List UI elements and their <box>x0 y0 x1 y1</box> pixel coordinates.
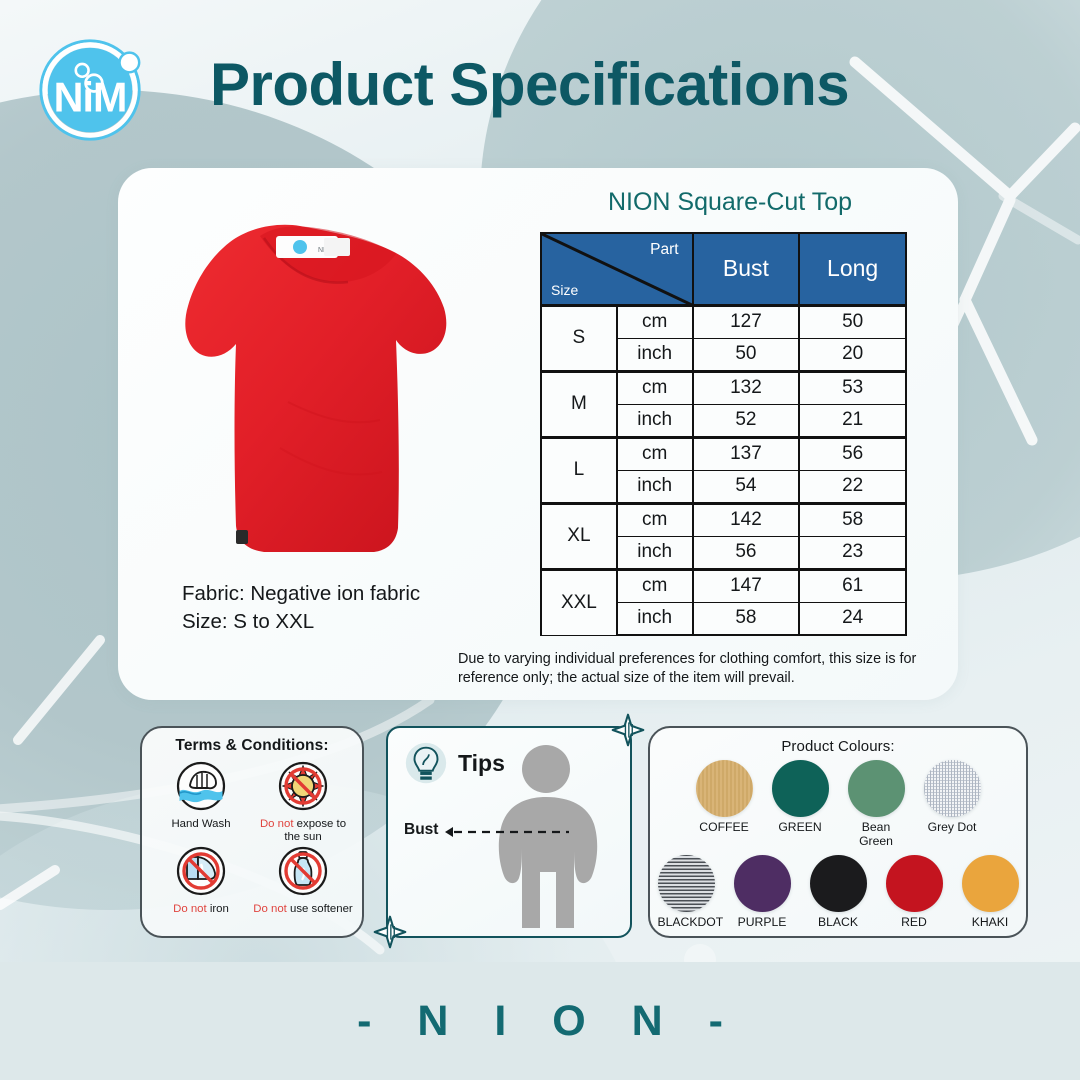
colour-swatch-bean-green[interactable]: Bean Green <box>848 760 905 848</box>
swatch-label: RED <box>886 916 943 930</box>
size-table-title: NION Square-Cut Top <box>540 188 920 217</box>
swatch-label: COFFEE <box>696 821 753 835</box>
colour-swatch-grey-dot[interactable]: Grey Dot <box>924 760 981 848</box>
table-row: M cm 132 53 <box>541 371 906 404</box>
table-row: XL cm 142 58 <box>541 503 906 536</box>
care-item-no-iron: Do not iron <box>150 846 252 916</box>
bust-value: 52 <box>693 404 800 437</box>
care-label-text: Hand Wash <box>171 818 230 830</box>
bust-value: 142 <box>693 503 800 536</box>
unit-cell: cm <box>617 371 693 404</box>
bust-value: 132 <box>693 371 800 404</box>
no-sun-icon <box>278 761 328 811</box>
care-label: Hand Wash <box>150 818 252 831</box>
bust-value: 56 <box>693 536 800 569</box>
brand-name: - N I O N - <box>340 997 740 1046</box>
long-value: 21 <box>799 404 906 437</box>
care-label: Do not use softener <box>252 903 354 916</box>
size-disclaimer: Due to varying individual preferences fo… <box>458 650 938 688</box>
star-decoration-icon <box>373 915 407 949</box>
tips-body: Tips Bust <box>388 728 630 936</box>
long-value: 24 <box>799 602 906 635</box>
colour-swatch-purple[interactable]: PURPLE <box>734 855 791 930</box>
table-corner-cell: Part Size <box>541 233 693 305</box>
swatch-circle <box>848 760 905 817</box>
colour-row-1: COFFEE GREEN Bean Green Grey Dot <box>650 760 1026 848</box>
swatch-label: GREEN <box>772 821 829 835</box>
unit-cell: cm <box>617 569 693 602</box>
swatch-circle <box>886 855 943 912</box>
product-info: Fabric: Negative ion fabric Size: S to X… <box>182 580 420 637</box>
svg-text:NiM: NiM <box>54 75 127 121</box>
size-table: Part Size Bust Long S cm 127 50 inch 50 … <box>540 232 907 636</box>
unit-cell: inch <box>617 470 693 503</box>
table-row: S cm 127 50 <box>541 305 906 338</box>
fabric-line: Fabric: Negative ion fabric <box>182 580 420 608</box>
care-label-text: expose to the sun <box>284 818 346 843</box>
care-label-red: Do not <box>253 903 287 915</box>
bust-value: 58 <box>693 602 800 635</box>
person-silhouette-icon <box>484 742 614 938</box>
swatch-circle <box>772 760 829 817</box>
swatch-label: Grey Dot <box>924 821 981 835</box>
swatch-label: Bean Green <box>848 821 905 848</box>
size-cell: XXL <box>541 569 617 635</box>
colour-swatch-khaki[interactable]: KHAKI <box>962 855 1019 930</box>
no-softener-icon <box>278 846 328 896</box>
page-header: NiM Product Specifications <box>0 0 1080 168</box>
swatch-circle <box>734 855 791 912</box>
column-header-long: Long <box>799 233 906 305</box>
product-photo: NION <box>168 212 468 572</box>
care-label: Do not expose to the sun <box>252 818 354 844</box>
unit-cell: inch <box>617 536 693 569</box>
care-label-red: Do not <box>260 818 294 830</box>
care-label: Do not iron <box>150 903 252 916</box>
long-value: 61 <box>799 569 906 602</box>
bust-measure-label: Bust <box>404 821 438 839</box>
tips-panel: Tips Bust <box>386 726 632 938</box>
terms-conditions-panel: Terms & Conditions: Hand Wash <box>140 726 364 938</box>
care-label-text: iron <box>207 903 229 915</box>
bust-value: 50 <box>693 338 800 371</box>
colour-swatch-black[interactable]: BLACK <box>810 855 867 930</box>
bust-value: 54 <box>693 470 800 503</box>
care-item-no-softener: Do not use softener <box>252 846 354 916</box>
column-header-bust: Bust <box>693 233 800 305</box>
colour-swatch-green[interactable]: GREEN <box>772 760 829 848</box>
nim-logo-icon: NiM <box>33 31 151 149</box>
swatch-circle <box>924 760 981 817</box>
unit-cell: cm <box>617 437 693 470</box>
colours-title: Product Colours: <box>650 728 1026 755</box>
care-icon-grid: Hand Wash Do not expose to the sun <box>142 755 362 917</box>
product-colours-panel: Product Colours: COFFEE GREEN Bean Green… <box>648 726 1028 938</box>
long-value: 56 <box>799 437 906 470</box>
size-line: Size: S to XXL <box>182 608 420 636</box>
long-value: 20 <box>799 338 906 371</box>
star-decoration-icon <box>611 713 645 747</box>
size-cell: XL <box>541 503 617 569</box>
care-label-red: Do not <box>173 903 207 915</box>
swatch-label: BLACK <box>810 916 867 930</box>
long-value: 53 <box>799 371 906 404</box>
corner-part-label: Part <box>650 241 678 259</box>
care-item-no-sun: Do not expose to the sun <box>252 761 354 844</box>
corner-size-label: Size <box>551 282 578 298</box>
swatch-label: PURPLE <box>734 916 791 930</box>
page-title: Product Specifications <box>210 50 849 119</box>
table-row: XXL cm 147 61 <box>541 569 906 602</box>
care-item-hand-wash: Hand Wash <box>150 761 252 844</box>
page-footer: - N I O N - <box>0 962 1080 1080</box>
colour-swatch-coffee[interactable]: COFFEE <box>696 760 753 848</box>
lightbulb-icon <box>402 740 450 788</box>
bust-value: 147 <box>693 569 800 602</box>
colour-swatch-blackdot[interactable]: BLACKDOT <box>658 855 715 930</box>
swatch-label: KHAKI <box>962 916 1019 930</box>
swatch-circle <box>962 855 1019 912</box>
unit-cell: cm <box>617 305 693 338</box>
unit-cell: inch <box>617 338 693 371</box>
long-value: 23 <box>799 536 906 569</box>
long-value: 22 <box>799 470 906 503</box>
long-value: 50 <box>799 305 906 338</box>
bust-measure-line-icon <box>443 824 573 840</box>
unit-cell: cm <box>617 503 693 536</box>
colour-swatch-red[interactable]: RED <box>886 855 943 930</box>
size-cell: M <box>541 371 617 437</box>
size-cell: S <box>541 305 617 371</box>
terms-title: Terms & Conditions: <box>142 728 362 755</box>
colour-row-2: BLACKDOT PURPLE BLACK RED KHAKI <box>650 855 1026 930</box>
table-row: L cm 137 56 <box>541 437 906 470</box>
long-value: 58 <box>799 503 906 536</box>
size-cell: L <box>541 437 617 503</box>
unit-cell: inch <box>617 602 693 635</box>
bust-value: 127 <box>693 305 800 338</box>
swatch-circle <box>810 855 867 912</box>
bust-value: 137 <box>693 437 800 470</box>
hand-wash-icon <box>176 761 226 811</box>
swatch-label: BLACKDOT <box>658 916 715 930</box>
swatch-circle <box>658 855 715 912</box>
care-label-text: use softener <box>287 903 353 915</box>
unit-cell: inch <box>617 404 693 437</box>
swatch-circle <box>696 760 753 817</box>
no-iron-icon <box>176 846 226 896</box>
